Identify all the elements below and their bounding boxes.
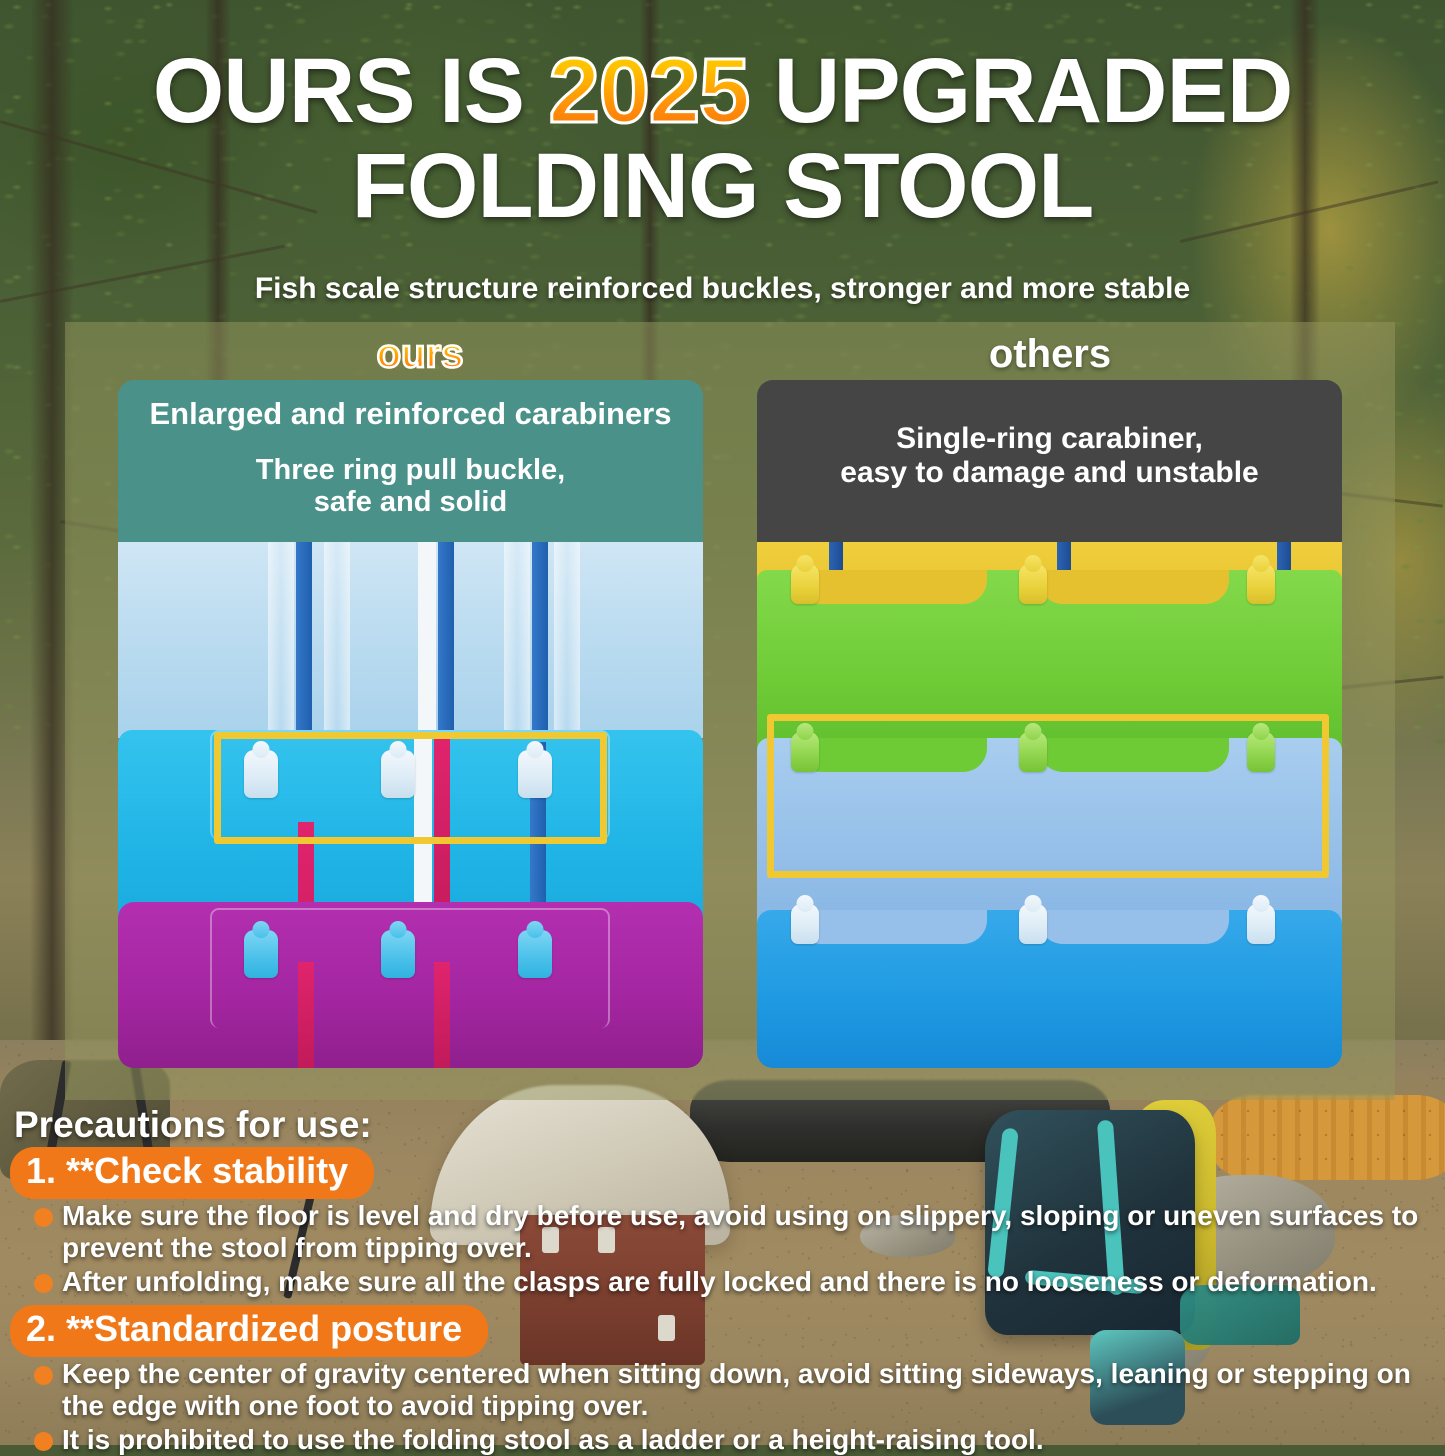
others-buckle-tab (791, 904, 819, 944)
ours-pink-rail (434, 962, 450, 1068)
headline-year: 2025 (549, 40, 750, 142)
comparison-card-others: Single-ring carabiner, easy to damage an… (757, 380, 1342, 1068)
others-buckle-tab (1019, 564, 1047, 604)
ours-card-header: Enlarged and reinforced carabiners Three… (118, 380, 703, 542)
others-buckle-tab (1019, 904, 1047, 944)
ours-buckle-tab (244, 930, 278, 978)
precautions-section: Precautions for use: 1. **Check stabilit… (0, 1100, 1445, 1445)
others-buckle-tab (1247, 564, 1275, 604)
ours-label-text: ours (377, 332, 464, 376)
headline-part-2: UPGRADED (749, 40, 1292, 142)
others-buckle-tab (791, 564, 819, 604)
column-label-ours: ours (240, 332, 600, 377)
precaution-bullet: After unfolding, make sure all the clasp… (62, 1266, 1442, 1298)
others-product-photo (757, 542, 1342, 1068)
headline-part-1: OURS IS (153, 40, 549, 142)
precaution-bullet: It is prohibited to use the folding stoo… (62, 1424, 1442, 1456)
ours-pink-rail (298, 962, 314, 1068)
others-header-line-2: Single-ring carabiner, easy to damage an… (757, 380, 1342, 489)
ours-product-photo (118, 542, 703, 1068)
ours-header-line-2: Three ring pull buckle, safe and solid (118, 432, 703, 519)
headline-line-2: FOLDING STOOL (0, 143, 1445, 230)
ours-buckle-tab (381, 930, 415, 978)
others-single-ring-row-top (791, 564, 1275, 604)
page-subtitle: Fish scale structure reinforced buckles,… (0, 272, 1445, 306)
ours-buckle-tab (518, 930, 552, 978)
others-buckle-tab (1247, 904, 1275, 944)
precaution-heading-2: 2. **Standardized posture (10, 1305, 488, 1357)
others-card-header: Single-ring carabiner, easy to damage an… (757, 380, 1342, 542)
page-headline: OURS IS 2025 UPGRADED FOLDING STOOL (0, 48, 1445, 231)
ours-lower-buckle-row (244, 930, 552, 978)
comparison-card-ours: Enlarged and reinforced carabiners Three… (118, 380, 703, 1068)
precaution-heading-1: 1. **Check stability (10, 1147, 374, 1199)
others-single-ring-row-bottom (791, 904, 1275, 944)
ours-highlight-box (214, 732, 607, 844)
precaution-bullet: Make sure the floor is level and dry bef… (62, 1200, 1442, 1263)
ours-upper-panel (118, 542, 703, 738)
precautions-title: Precautions for use: (14, 1104, 372, 1146)
precaution-bullet: Keep the center of gravity centered when… (62, 1358, 1442, 1421)
others-highlight-box (767, 714, 1329, 878)
column-label-others: others (870, 332, 1230, 377)
ours-header-line-1: Enlarged and reinforced carabiners (118, 380, 703, 432)
